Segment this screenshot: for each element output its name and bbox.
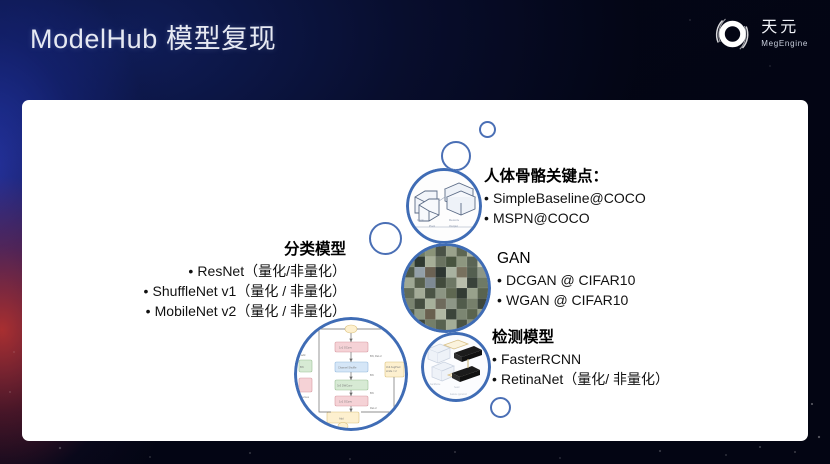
bullet-icon: • — [497, 273, 506, 287]
svg-text:1x1 GConv: 1x1 GConv — [339, 400, 353, 404]
detection-item-1-label: RetinaNet（量化/ 非量化） — [501, 370, 669, 390]
pose-item-0: • SimpleBaseline@COCO — [484, 189, 646, 209]
classification-item-0-label: ResNet（量化/非量化） — [197, 262, 346, 282]
bullet-icon: • — [188, 264, 197, 278]
svg-text:Add: Add — [339, 416, 344, 420]
bullet-icon: • — [484, 191, 493, 205]
pose-text-block: 人体骨骼关键点： • SimpleBaseline@COCO • MSPN@CO… — [484, 164, 646, 229]
svg-text:1x1 GConv: 1x1 GConv — [339, 346, 353, 350]
content-card: Conv Pool Deconv Output — [22, 100, 808, 441]
classification-item-1-label: ShuffleNet v1（量化 / 非量化） — [153, 282, 346, 302]
classification-figure: 1x1 GConv Channel Shuffle 3x3 DWConv 1x1… — [294, 317, 408, 431]
svg-text:BN: BN — [370, 391, 374, 395]
gan-item-1: • WGAN @ CIFAR10 — [497, 291, 635, 311]
svg-text:Previous: Previous — [299, 395, 310, 399]
svg-text:head: head — [454, 386, 460, 389]
classification-heading: 分类模型 — [60, 237, 346, 259]
detection-figure-image: backbone head feature pyramid — [424, 335, 488, 399]
svg-text:backbone: backbone — [430, 383, 441, 386]
classification-item-2-label: MobileNet v2（量化 / 非量化） — [155, 302, 346, 322]
gan-item-0: • DCGAN @ CIFAR10 — [497, 271, 635, 291]
detection-item-1: • RetinaNet（量化/ 非量化） — [492, 370, 669, 390]
classification-item-0: • ResNet（量化/非量化） — [60, 262, 346, 282]
pose-figure: Conv Pool Deconv Output — [406, 168, 482, 244]
svg-text:BN, ReLU: BN, ReLU — [370, 354, 382, 358]
detection-figure: backbone head feature pyramid — [421, 332, 491, 402]
svg-text:BN: BN — [370, 373, 374, 377]
svg-text:Output: Output — [449, 224, 458, 228]
classification-figure-image: 1x1 GConv Channel Shuffle 3x3 DWConv 1x1… — [297, 320, 405, 428]
gan-figure — [401, 243, 491, 333]
bullet-icon: • — [144, 284, 153, 298]
svg-text:feature pyramid: feature pyramid — [450, 393, 467, 396]
svg-text:BN: BN — [300, 365, 304, 369]
svg-text:add: add — [301, 353, 306, 357]
page-title: ModelHub 模型复现 — [30, 17, 276, 56]
pose-figure-image: Conv Pool Deconv Output — [409, 171, 479, 241]
gan-item-0-label: DCGAN @ CIFAR10 — [506, 271, 635, 291]
bubble-small-top-icon — [479, 121, 496, 138]
gan-heading: GAN — [497, 250, 635, 268]
brand-text: 天元 MegEngine — [761, 20, 808, 48]
classification-item-1: • ShuffleNet v1（量化 / 非量化） — [60, 282, 346, 302]
bullet-icon: • — [497, 293, 506, 307]
bubble-small-bottom-icon — [490, 397, 511, 418]
bullet-icon: • — [492, 352, 501, 366]
brand-name-en: MegEngine — [761, 40, 808, 48]
svg-text:Deconv: Deconv — [449, 218, 460, 222]
pose-item-0-label: SimpleBaseline@COCO — [493, 189, 646, 209]
gan-item-1-label: WGAN @ CIFAR10 — [506, 291, 628, 311]
bubble-medium-top-icon — [441, 141, 471, 171]
brand-logo: 天元 MegEngine — [712, 14, 808, 54]
svg-text:Channel Shuffle: Channel Shuffle — [338, 366, 357, 370]
svg-text:Pool: Pool — [429, 224, 435, 228]
svg-text:3x3 DWConv: 3x3 DWConv — [337, 384, 353, 388]
pose-item-1-label: MSPN@COCO — [493, 209, 590, 229]
classification-item-2: • MobileNet v2（量化 / 非量化） — [60, 302, 346, 322]
pose-heading: 人体骨骼关键点： — [484, 164, 646, 186]
detection-item-0: • FasterRCNN — [492, 350, 669, 370]
brand-name-cn: 天元 — [761, 20, 808, 36]
detection-heading: 检测模型 — [492, 325, 669, 347]
slide-canvas: ModelHub 模型复现 天元 MegEngine — [0, 0, 830, 464]
classification-text-block: 分类模型 • ResNet（量化/非量化） • ShuffleNet v1（量化… — [60, 237, 346, 322]
detection-item-0-label: FasterRCNN — [501, 350, 581, 370]
bullet-icon: • — [492, 372, 501, 386]
svg-text:stride = 2: stride = 2 — [386, 369, 397, 373]
svg-text:ReLU: ReLU — [370, 406, 377, 410]
megengine-swirl-logo-icon — [712, 14, 752, 54]
bubble-medium-left-icon — [369, 222, 402, 255]
detection-text-block: 检测模型 • FasterRCNN • RetinaNet（量化/ 非量化） — [492, 325, 669, 390]
pose-item-1: • MSPN@COCO — [484, 209, 646, 229]
gan-text-block: GAN • DCGAN @ CIFAR10 • WGAN @ CIFAR10 — [497, 250, 635, 311]
svg-text:Conv: Conv — [417, 218, 425, 222]
bullet-icon: • — [146, 304, 155, 318]
svg-text:3x3 AvgPool: 3x3 AvgPool — [386, 365, 401, 369]
bullet-icon: • — [484, 211, 493, 225]
gan-figure-image — [404, 246, 488, 330]
